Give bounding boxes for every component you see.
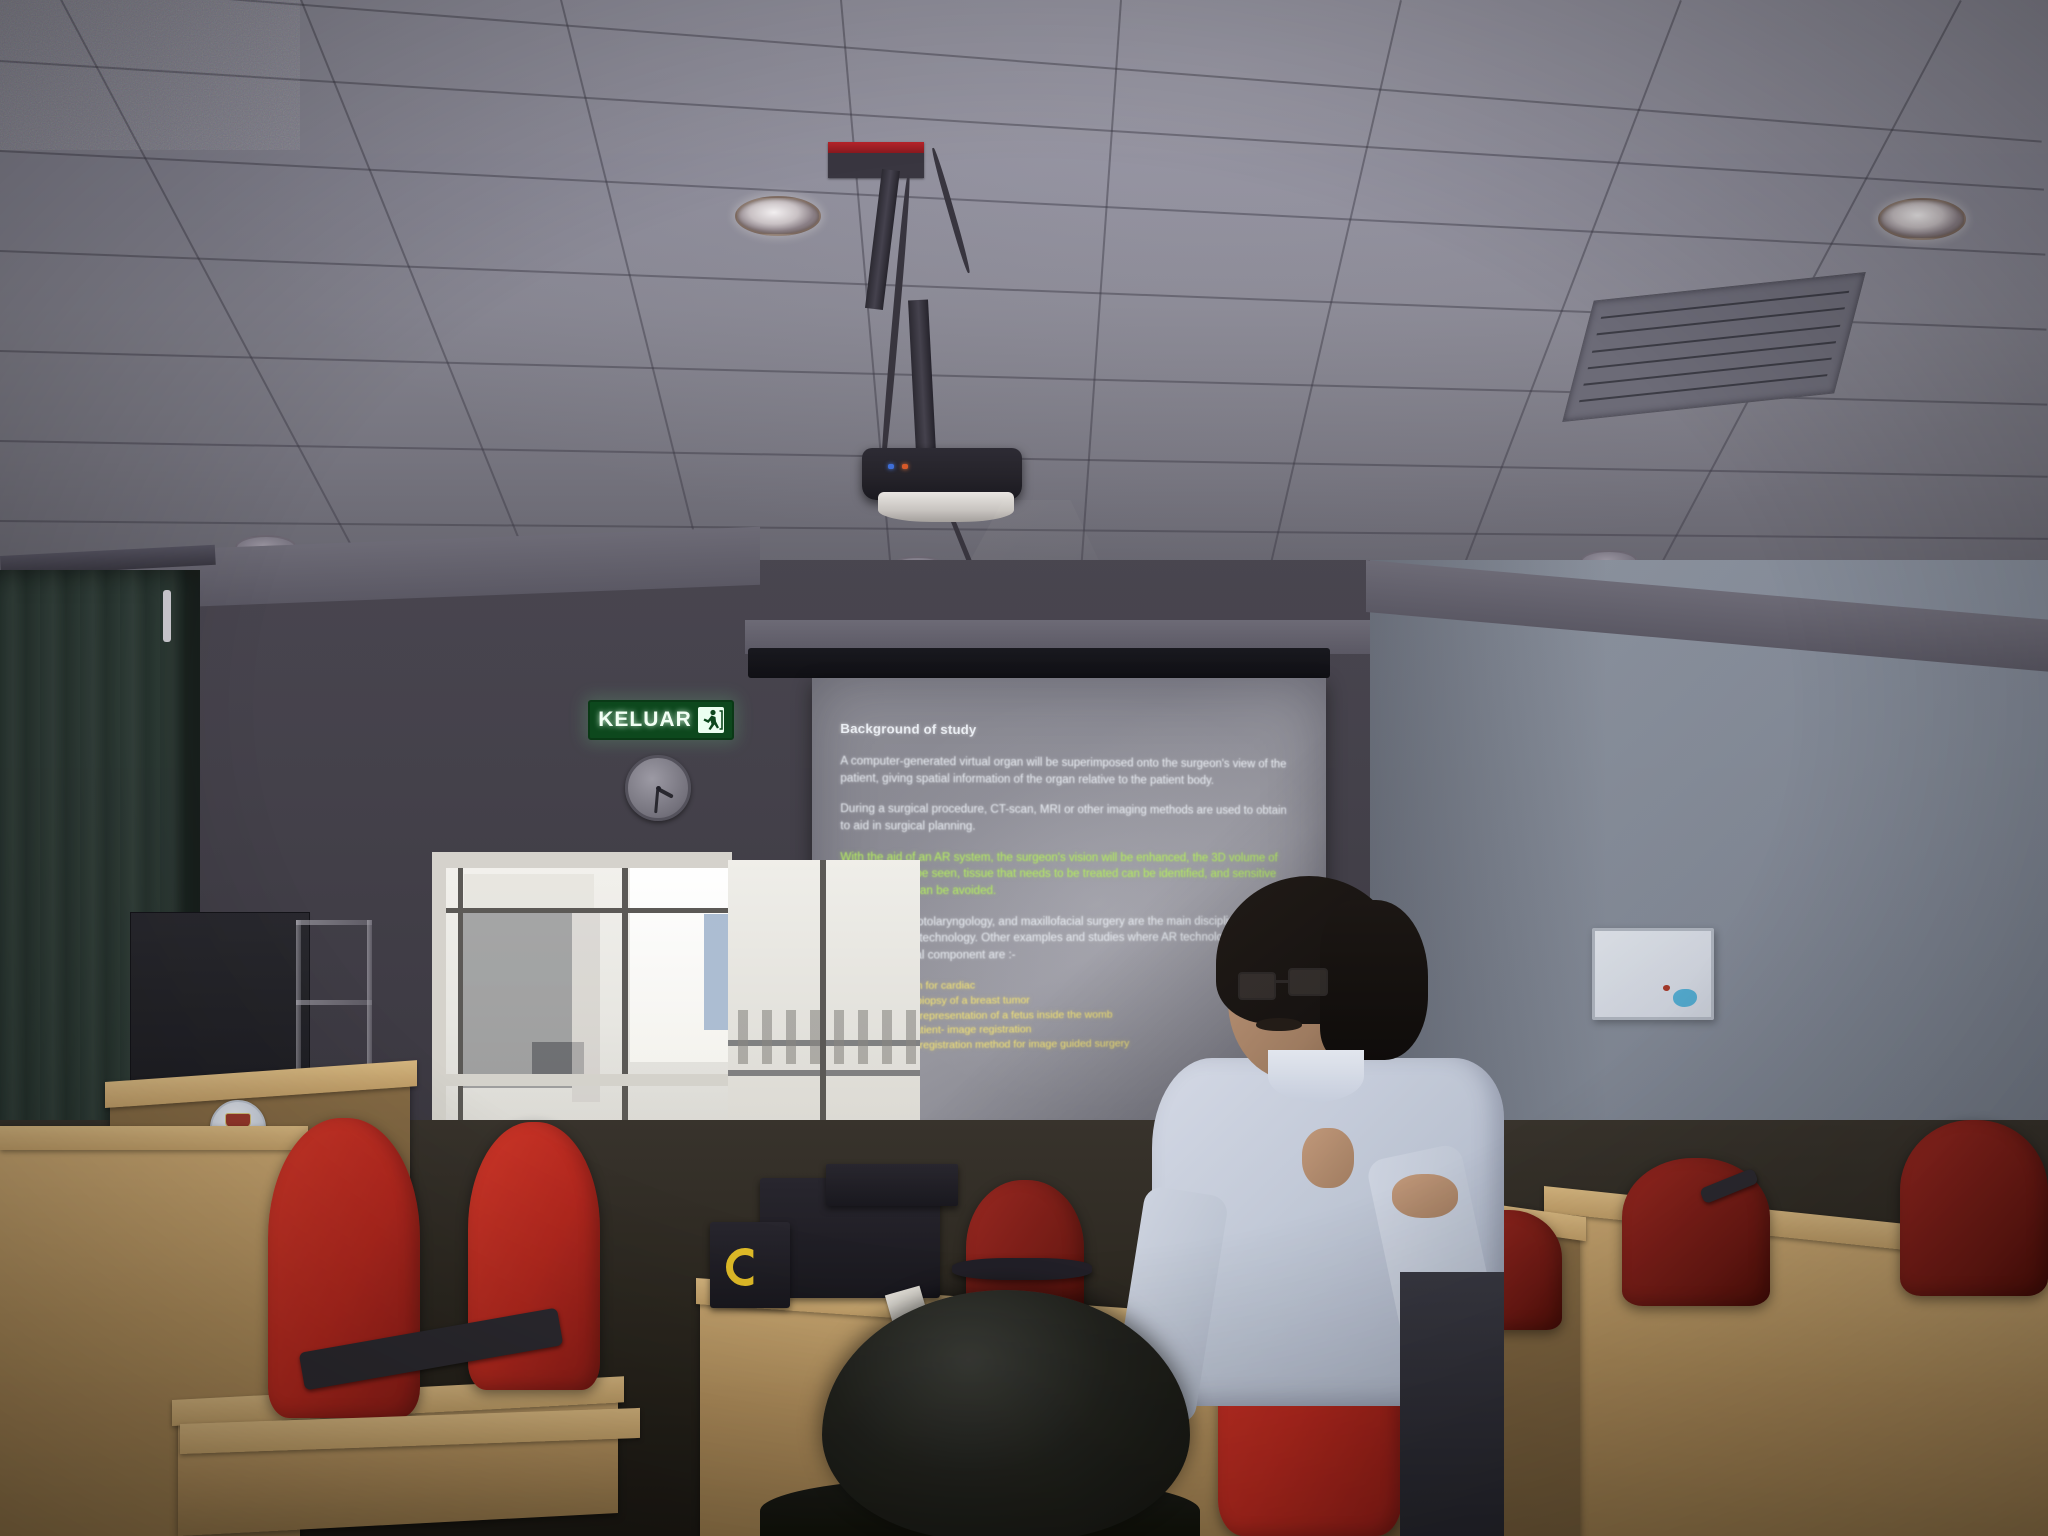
projector-lens-plate <box>878 492 1014 522</box>
running-man-exit-icon <box>698 707 724 733</box>
av-speaker-unit <box>710 1222 790 1308</box>
presenter-collar <box>1268 1050 1364 1102</box>
projector-status-led-icon <box>902 464 908 469</box>
presenter-trousers <box>1400 1272 1504 1536</box>
lecture-hall-photo: KELUAR Background of study A computer-ge… <box>0 0 2048 1536</box>
projector-power-led-icon <box>888 464 894 469</box>
auditorium-chair[interactable] <box>1900 1120 2048 1296</box>
door-mullion <box>432 908 732 913</box>
bracket-red-cap <box>828 142 924 153</box>
corridor-chairs-silhouette <box>738 1010 918 1064</box>
door-frame <box>432 1074 732 1086</box>
recessed-downlight <box>1878 198 1966 240</box>
projector-ceiling-bracket <box>828 142 924 178</box>
presenter-glasses-bridge <box>1276 980 1290 983</box>
av-rack-unit <box>826 1164 958 1206</box>
metal-shelf-rack <box>296 1000 372 1005</box>
presenter-glasses-lens <box>1238 972 1276 1000</box>
exit-sign: KELUAR <box>588 700 734 740</box>
exit-sign-label: KELUAR <box>598 708 692 732</box>
whiteboard <box>1592 928 1714 1020</box>
clock-minute-hand <box>655 789 660 813</box>
whiteboard-red-mark <box>1663 985 1670 991</box>
clock-center-pin <box>656 786 661 791</box>
slide-paragraph: During a surgical procedure, CT-scan, MR… <box>840 801 1292 836</box>
presenter-glasses-lens <box>1288 968 1328 996</box>
recessed-downlight <box>735 196 821 236</box>
screen-housing <box>748 648 1330 678</box>
desk-surface <box>0 1126 308 1150</box>
wall-clock <box>625 755 691 821</box>
presenter-hand <box>1392 1174 1458 1218</box>
cable-coil <box>952 1258 1092 1280</box>
corridor-ceiling-slab <box>464 874 594 910</box>
curtain-hook <box>163 590 171 642</box>
metal-shelf-rack <box>296 920 372 925</box>
presenter-hair-back <box>1320 900 1428 1060</box>
presenter-hand <box>1302 1128 1354 1188</box>
door-frame <box>432 852 732 868</box>
presenter-mustache <box>1256 1018 1302 1031</box>
slide-paragraph: A computer-generated virtual organ will … <box>840 753 1292 789</box>
slide-title: Background of study <box>840 721 1292 740</box>
whiteboard-blue-mark <box>1673 989 1697 1007</box>
